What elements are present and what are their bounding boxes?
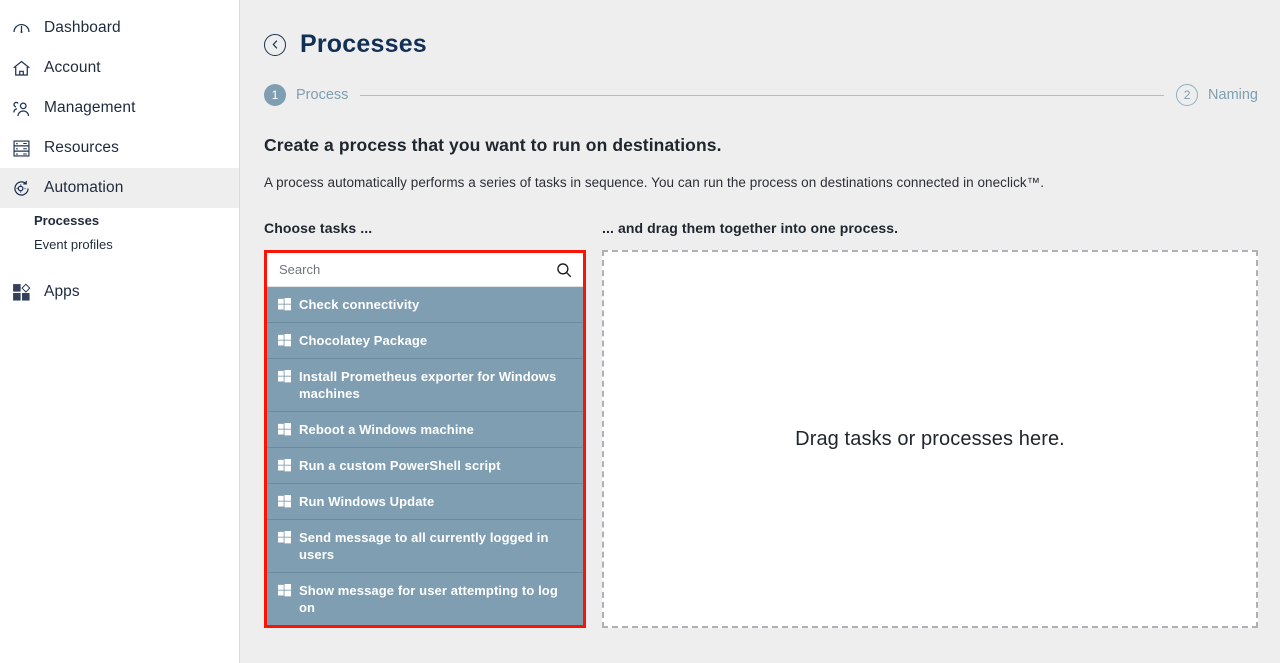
- search-input[interactable]: [279, 262, 555, 277]
- task-list-item[interactable]: Run Windows Update: [267, 484, 583, 520]
- sidebar-subitem-label: Processes: [34, 213, 99, 228]
- sidebar-item-label: Automation: [44, 179, 123, 197]
- step-naming[interactable]: 2 Naming: [1176, 84, 1258, 106]
- dropzone-placeholder-text: Drag tasks or processes here.: [795, 428, 1065, 451]
- windows-icon: [278, 298, 291, 311]
- page-header: Processes: [264, 0, 1258, 63]
- server-rack-icon: [10, 137, 32, 159]
- task-list-item[interactable]: Run a custom PowerShell script: [267, 448, 583, 484]
- main-content: Processes 1 Process 2 Naming Create a pr…: [240, 0, 1280, 663]
- task-list: Check connectivityChocolatey PackageInst…: [267, 287, 583, 628]
- process-dropzone[interactable]: Drag tasks or processes here.: [602, 250, 1258, 628]
- windows-icon: [278, 370, 291, 383]
- task-item-label: Check connectivity: [299, 296, 419, 313]
- sidebar-item-account[interactable]: Account: [0, 48, 239, 88]
- sidebar-item-automation[interactable]: Automation: [0, 168, 239, 208]
- sidebar-item-label: Resources: [44, 139, 119, 157]
- search-row: [267, 253, 583, 287]
- sidebar-item-label: Account: [44, 59, 101, 77]
- sidebar-item-dashboard[interactable]: Dashboard: [0, 8, 239, 48]
- sidebar-item-label: Management: [44, 99, 135, 117]
- sidebar-spacer: [0, 256, 239, 272]
- lead-heading: Create a process that you want to run on…: [264, 135, 1258, 156]
- apps-grid-icon: [10, 281, 32, 303]
- task-list-panel: Check connectivityChocolatey PackageInst…: [264, 250, 586, 628]
- task-list-item[interactable]: Install Prometheus exporter for Windows …: [267, 359, 583, 412]
- task-list-item[interactable]: Reboot a Windows machine: [267, 412, 583, 448]
- task-list-item[interactable]: Chocolatey Package: [267, 323, 583, 359]
- choose-tasks-heading: Choose tasks ...: [264, 220, 586, 242]
- sidebar-item-resources[interactable]: Resources: [0, 128, 239, 168]
- task-item-label: Run Windows Update: [299, 493, 434, 510]
- task-list-item[interactable]: Show message for user attempting to log …: [267, 573, 583, 626]
- chevron-left-circle-icon[interactable]: [264, 34, 286, 56]
- task-item-label: Install Prometheus exporter for Windows …: [299, 368, 573, 402]
- task-item-label: Send message to all currently logged in …: [299, 529, 573, 563]
- step-label: Naming: [1208, 87, 1258, 103]
- sidebar-item-management[interactable]: Management: [0, 88, 239, 128]
- sidebar-item-label: Dashboard: [44, 19, 121, 37]
- windows-icon: [278, 584, 291, 597]
- people-icon: [10, 97, 32, 119]
- gauge-icon: [10, 17, 32, 39]
- task-item-label: Show message for user attempting to log …: [299, 582, 573, 616]
- sidebar: Dashboard Account Management: [0, 0, 240, 663]
- task-list-item[interactable]: Check connectivity: [267, 287, 583, 323]
- task-item-label: Chocolatey Package: [299, 332, 427, 349]
- task-item-label: Run a custom PowerShell script: [299, 457, 501, 474]
- step-process[interactable]: 1 Process: [264, 84, 348, 106]
- stepper-connector: [360, 95, 1164, 96]
- windows-icon: [278, 459, 291, 472]
- windows-icon: [278, 334, 291, 347]
- sidebar-subitem-label: Event profiles: [34, 237, 113, 252]
- page-title: Processes: [300, 30, 427, 59]
- step-label: Process: [296, 87, 348, 103]
- home-icon: [10, 57, 32, 79]
- drag-together-heading: ... and drag them together into one proc…: [602, 220, 1258, 242]
- task-list-item[interactable]: Windows DNS Client: [267, 626, 583, 628]
- task-list-item[interactable]: Send message to all currently logged in …: [267, 520, 583, 573]
- app-root: Dashboard Account Management: [0, 0, 1280, 663]
- stepper: 1 Process 2 Naming: [264, 81, 1258, 109]
- columns-wrapper: Choose tasks ... Check connectivityChoco…: [264, 220, 1258, 628]
- sidebar-subitem-event-profiles[interactable]: Event profiles: [0, 232, 239, 256]
- task-picker-column: Choose tasks ... Check connectivityChoco…: [264, 220, 586, 628]
- windows-icon: [278, 495, 291, 508]
- sidebar-item-label: Apps: [44, 283, 80, 301]
- sidebar-subitem-processes[interactable]: Processes: [0, 208, 239, 232]
- task-item-label: Reboot a Windows machine: [299, 421, 474, 438]
- step-number: 2: [1176, 84, 1198, 106]
- sidebar-item-apps[interactable]: Apps: [0, 272, 239, 312]
- windows-icon: [278, 423, 291, 436]
- process-builder-column: ... and drag them together into one proc…: [602, 220, 1258, 628]
- description-text: A process automatically performs a serie…: [264, 175, 1258, 190]
- windows-icon: [278, 531, 291, 544]
- gear-refresh-icon: [10, 177, 32, 199]
- step-number: 1: [264, 84, 286, 106]
- search-icon[interactable]: [555, 261, 573, 279]
